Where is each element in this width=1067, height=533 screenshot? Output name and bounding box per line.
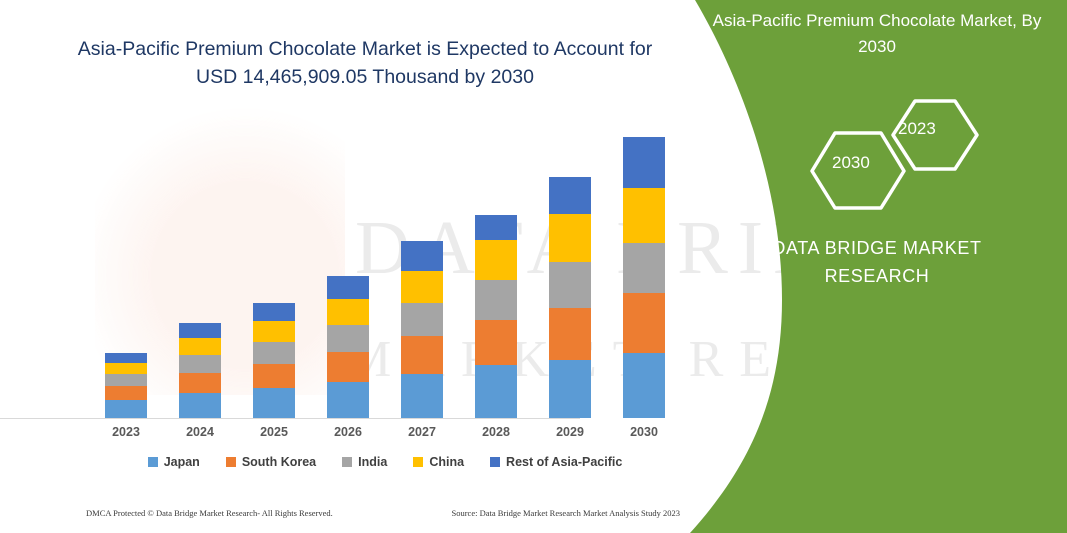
brand-panel-content: Asia-Pacific Premium Chocolate Market, B… <box>687 0 1067 533</box>
legend-item[interactable]: India <box>342 455 387 469</box>
bar-segment <box>475 215 517 240</box>
bar-segment <box>549 177 591 214</box>
bar-segment <box>105 353 147 363</box>
bar-segment <box>327 299 369 325</box>
bar-segment <box>623 243 665 293</box>
bar-segment <box>179 393 221 418</box>
brand-name: DATA BRIDGE MARKET RESEARCH <box>707 235 1047 291</box>
legend-swatch-icon <box>148 457 158 467</box>
legend-label: Japan <box>164 455 200 469</box>
bar-segment <box>623 293 665 353</box>
stacked-bar-chart <box>95 118 675 418</box>
legend-swatch-icon <box>342 457 352 467</box>
bar-segment <box>475 365 517 418</box>
bar-column <box>623 137 665 418</box>
bar-segment <box>327 276 369 299</box>
bar-segment <box>327 352 369 382</box>
page-title: Asia-Pacific Premium Chocolate Market is… <box>60 36 670 91</box>
infographic-page: DATA BRIDGE MARKET RESEARCH Asia-Pacific… <box>0 0 1067 533</box>
legend-label: Rest of Asia-Pacific <box>506 455 622 469</box>
bar-segment <box>327 325 369 352</box>
bar-column <box>179 323 221 418</box>
legend-label: India <box>358 455 387 469</box>
x-axis-label: 2024 <box>179 425 221 445</box>
hexagon-2030-label: 2030 <box>832 153 870 173</box>
bar-segment <box>179 338 221 355</box>
bar-segment <box>549 308 591 360</box>
bar-column <box>253 303 295 418</box>
bar-segment <box>623 353 665 418</box>
x-axis-label: 2028 <box>475 425 517 445</box>
bar-segment <box>105 363 147 374</box>
bar-segment <box>401 271 443 303</box>
footer-copyright: DMCA Protected © Data Bridge Market Rese… <box>86 508 333 518</box>
hexagon-2023-label: 2023 <box>898 119 936 139</box>
bar-segment <box>105 386 147 400</box>
bar-segment <box>401 241 443 271</box>
bar-segment <box>253 342 295 364</box>
bar-segment <box>623 137 665 188</box>
bar-column <box>475 215 517 418</box>
legend-swatch-icon <box>226 457 236 467</box>
bar-segment <box>327 382 369 418</box>
x-axis-label: 2025 <box>253 425 295 445</box>
footer: DMCA Protected © Data Bridge Market Rese… <box>86 508 686 518</box>
panel-title: Asia-Pacific Premium Chocolate Market, B… <box>707 8 1047 59</box>
chart-legend: JapanSouth KoreaIndiaChinaRest of Asia-P… <box>95 455 675 469</box>
bar-segment <box>179 373 221 393</box>
bar-segment <box>475 240 517 280</box>
legend-item[interactable]: China <box>413 455 464 469</box>
bar-segment <box>401 336 443 374</box>
x-axis-label: 2030 <box>623 425 665 445</box>
x-axis-labels: 20232024202520262027202820292030 <box>95 425 675 445</box>
legend-item[interactable]: South Korea <box>226 455 316 469</box>
bar-column <box>105 353 147 418</box>
chart-plot-area <box>95 118 675 418</box>
bar-segment <box>401 303 443 336</box>
bar-segment <box>401 374 443 418</box>
bar-segment <box>253 303 295 321</box>
legend-label: China <box>429 455 464 469</box>
brand-line-1: DATA BRIDGE MARKET <box>707 235 1047 263</box>
bar-segment <box>475 280 517 320</box>
bar-segment <box>253 321 295 342</box>
bar-segment <box>253 364 295 388</box>
bar-segment <box>475 320 517 365</box>
legend-item[interactable]: Japan <box>148 455 200 469</box>
bar-segment <box>105 400 147 418</box>
bar-segment <box>549 360 591 418</box>
bar-segment <box>105 374 147 386</box>
x-axis-label: 2027 <box>401 425 443 445</box>
bar-segment <box>623 188 665 243</box>
bar-segment <box>179 323 221 338</box>
bar-column <box>327 276 369 418</box>
x-axis-label: 2026 <box>327 425 369 445</box>
bar-segment <box>179 355 221 373</box>
bar-column <box>401 241 443 418</box>
brand-line-2: RESEARCH <box>707 263 1047 291</box>
bar-segment <box>549 262 591 308</box>
bar-segment <box>253 388 295 418</box>
bar-segment <box>549 214 591 262</box>
x-axis-line <box>0 418 580 419</box>
legend-label: South Korea <box>242 455 316 469</box>
x-axis-label: 2023 <box>105 425 147 445</box>
footer-source: Source: Data Bridge Market Research Mark… <box>451 508 680 518</box>
legend-swatch-icon <box>490 457 500 467</box>
bar-column <box>549 177 591 418</box>
x-axis-label: 2029 <box>549 425 591 445</box>
legend-swatch-icon <box>413 457 423 467</box>
legend-item[interactable]: Rest of Asia-Pacific <box>490 455 622 469</box>
hexagon-group: 2030 2023 <box>807 95 987 210</box>
